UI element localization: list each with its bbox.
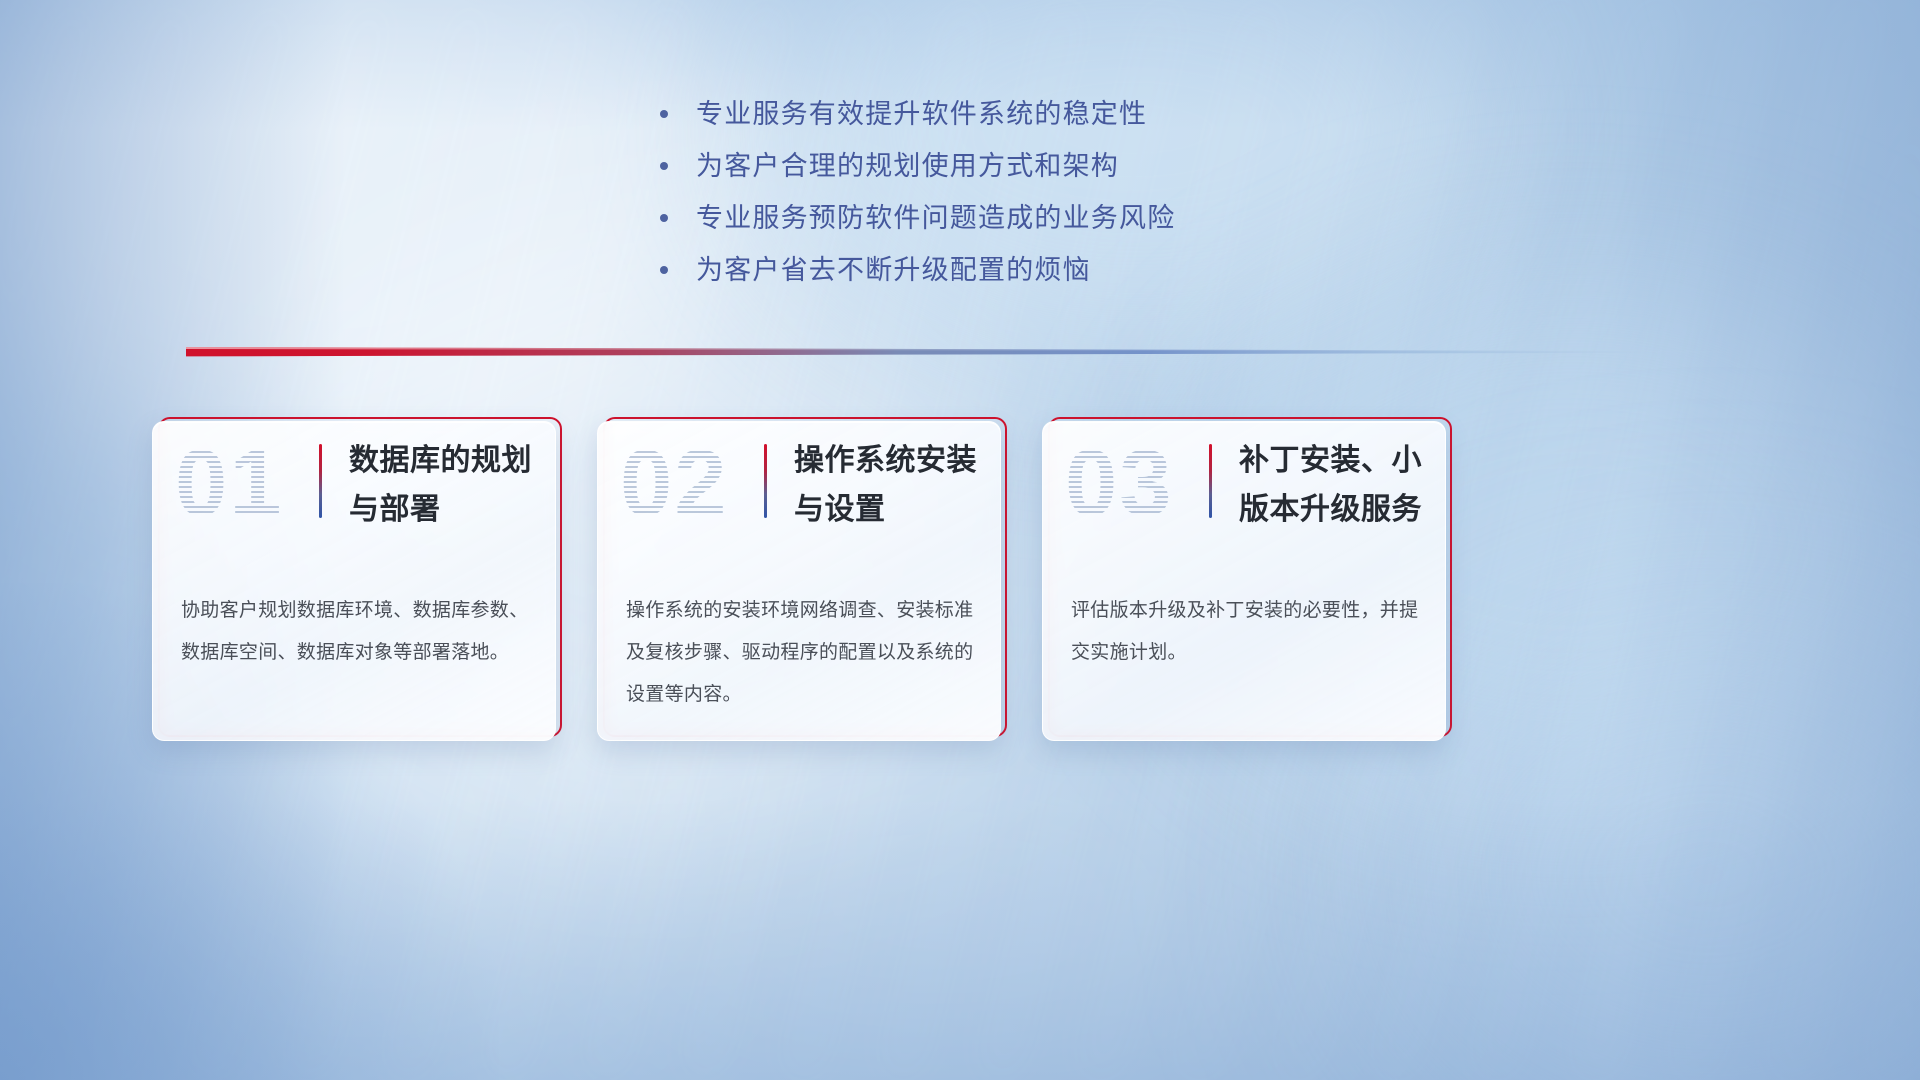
card-number: 03: [1065, 436, 1174, 530]
card-description: 评估版本升级及补丁安装的必要性，并提交实施计划。: [1071, 590, 1423, 674]
list-item-label: 为客户合理的规划使用方式和架构: [696, 140, 1119, 192]
card-title-line1: 数据库的规划: [349, 436, 541, 485]
card-panel: 03 补丁安装、小 版本升级服务 评估版本升级及补丁安装的必要性，并提交实施计划…: [1042, 421, 1446, 741]
benefits-bullet-list: 专业服务有效提升软件系统的稳定性 为客户合理的规划使用方式和架构 专业服务预防软…: [660, 88, 1420, 296]
section-divider: [186, 345, 1738, 361]
service-card[interactable]: 01 数据库的规划 与部署 协助客户规划数据库环境、数据库参数、数据库空间、数据…: [152, 421, 556, 741]
list-item-label: 专业服务有效提升软件系统的稳定性: [696, 88, 1147, 140]
card-title: 数据库的规划 与部署: [349, 436, 541, 534]
list-item: 专业服务有效提升软件系统的稳定性: [660, 88, 1420, 140]
card-title: 补丁安装、小 版本升级服务: [1239, 436, 1431, 534]
card-header: 02 操作系统安装 与设置: [598, 422, 1000, 572]
card-panel: 01 数据库的规划 与部署 协助客户规划数据库环境、数据库参数、数据库空间、数据…: [152, 421, 556, 741]
card-title: 操作系统安装 与设置: [794, 436, 986, 534]
service-card[interactable]: 03 补丁安装、小 版本升级服务 评估版本升级及补丁安装的必要性，并提交实施计划…: [1042, 421, 1446, 741]
card-description: 协助客户规划数据库环境、数据库参数、数据库空间、数据库对象等部署落地。: [181, 590, 533, 674]
card-title-line1: 补丁安装、小: [1239, 436, 1431, 485]
card-title-line2: 与设置: [794, 485, 986, 534]
card-header: 01 数据库的规划 与部署: [153, 422, 555, 572]
divider-wedge-icon: [186, 345, 1738, 361]
card-divider-bar-icon: [319, 444, 322, 518]
bullet-dot-icon: [660, 110, 668, 118]
list-item: 专业服务预防软件问题造成的业务风险: [660, 192, 1420, 244]
list-item: 为客户合理的规划使用方式和架构: [660, 140, 1420, 192]
list-item-label: 为客户省去不断升级配置的烦恼: [696, 244, 1091, 296]
bullet-dot-icon: [660, 266, 668, 274]
card-divider-bar-icon: [1209, 444, 1212, 518]
card-divider-bar-icon: [764, 444, 767, 518]
card-title-line2: 与部署: [349, 485, 541, 534]
card-header: 03 补丁安装、小 版本升级服务: [1043, 422, 1445, 572]
card-number: 02: [620, 436, 729, 530]
list-item-label: 专业服务预防软件问题造成的业务风险: [696, 192, 1175, 244]
service-cards-row: 01 数据库的规划 与部署 协助客户规划数据库环境、数据库参数、数据库空间、数据…: [152, 421, 1448, 741]
card-description: 操作系统的安装环境网络调查、安装标准及复核步骤、驱动程序的配置以及系统的设置等内…: [626, 590, 978, 716]
card-panel: 02 操作系统安装 与设置 操作系统的安装环境网络调查、安装标准及复核步骤、驱动…: [597, 421, 1001, 741]
card-number: 01: [175, 436, 284, 530]
card-title-line1: 操作系统安装: [794, 436, 986, 485]
list-item: 为客户省去不断升级配置的烦恼: [660, 244, 1420, 296]
service-card[interactable]: 02 操作系统安装 与设置 操作系统的安装环境网络调查、安装标准及复核步骤、驱动…: [597, 421, 1001, 741]
bullet-dot-icon: [660, 162, 668, 170]
bullet-dot-icon: [660, 214, 668, 222]
card-title-line2: 版本升级服务: [1239, 485, 1431, 534]
